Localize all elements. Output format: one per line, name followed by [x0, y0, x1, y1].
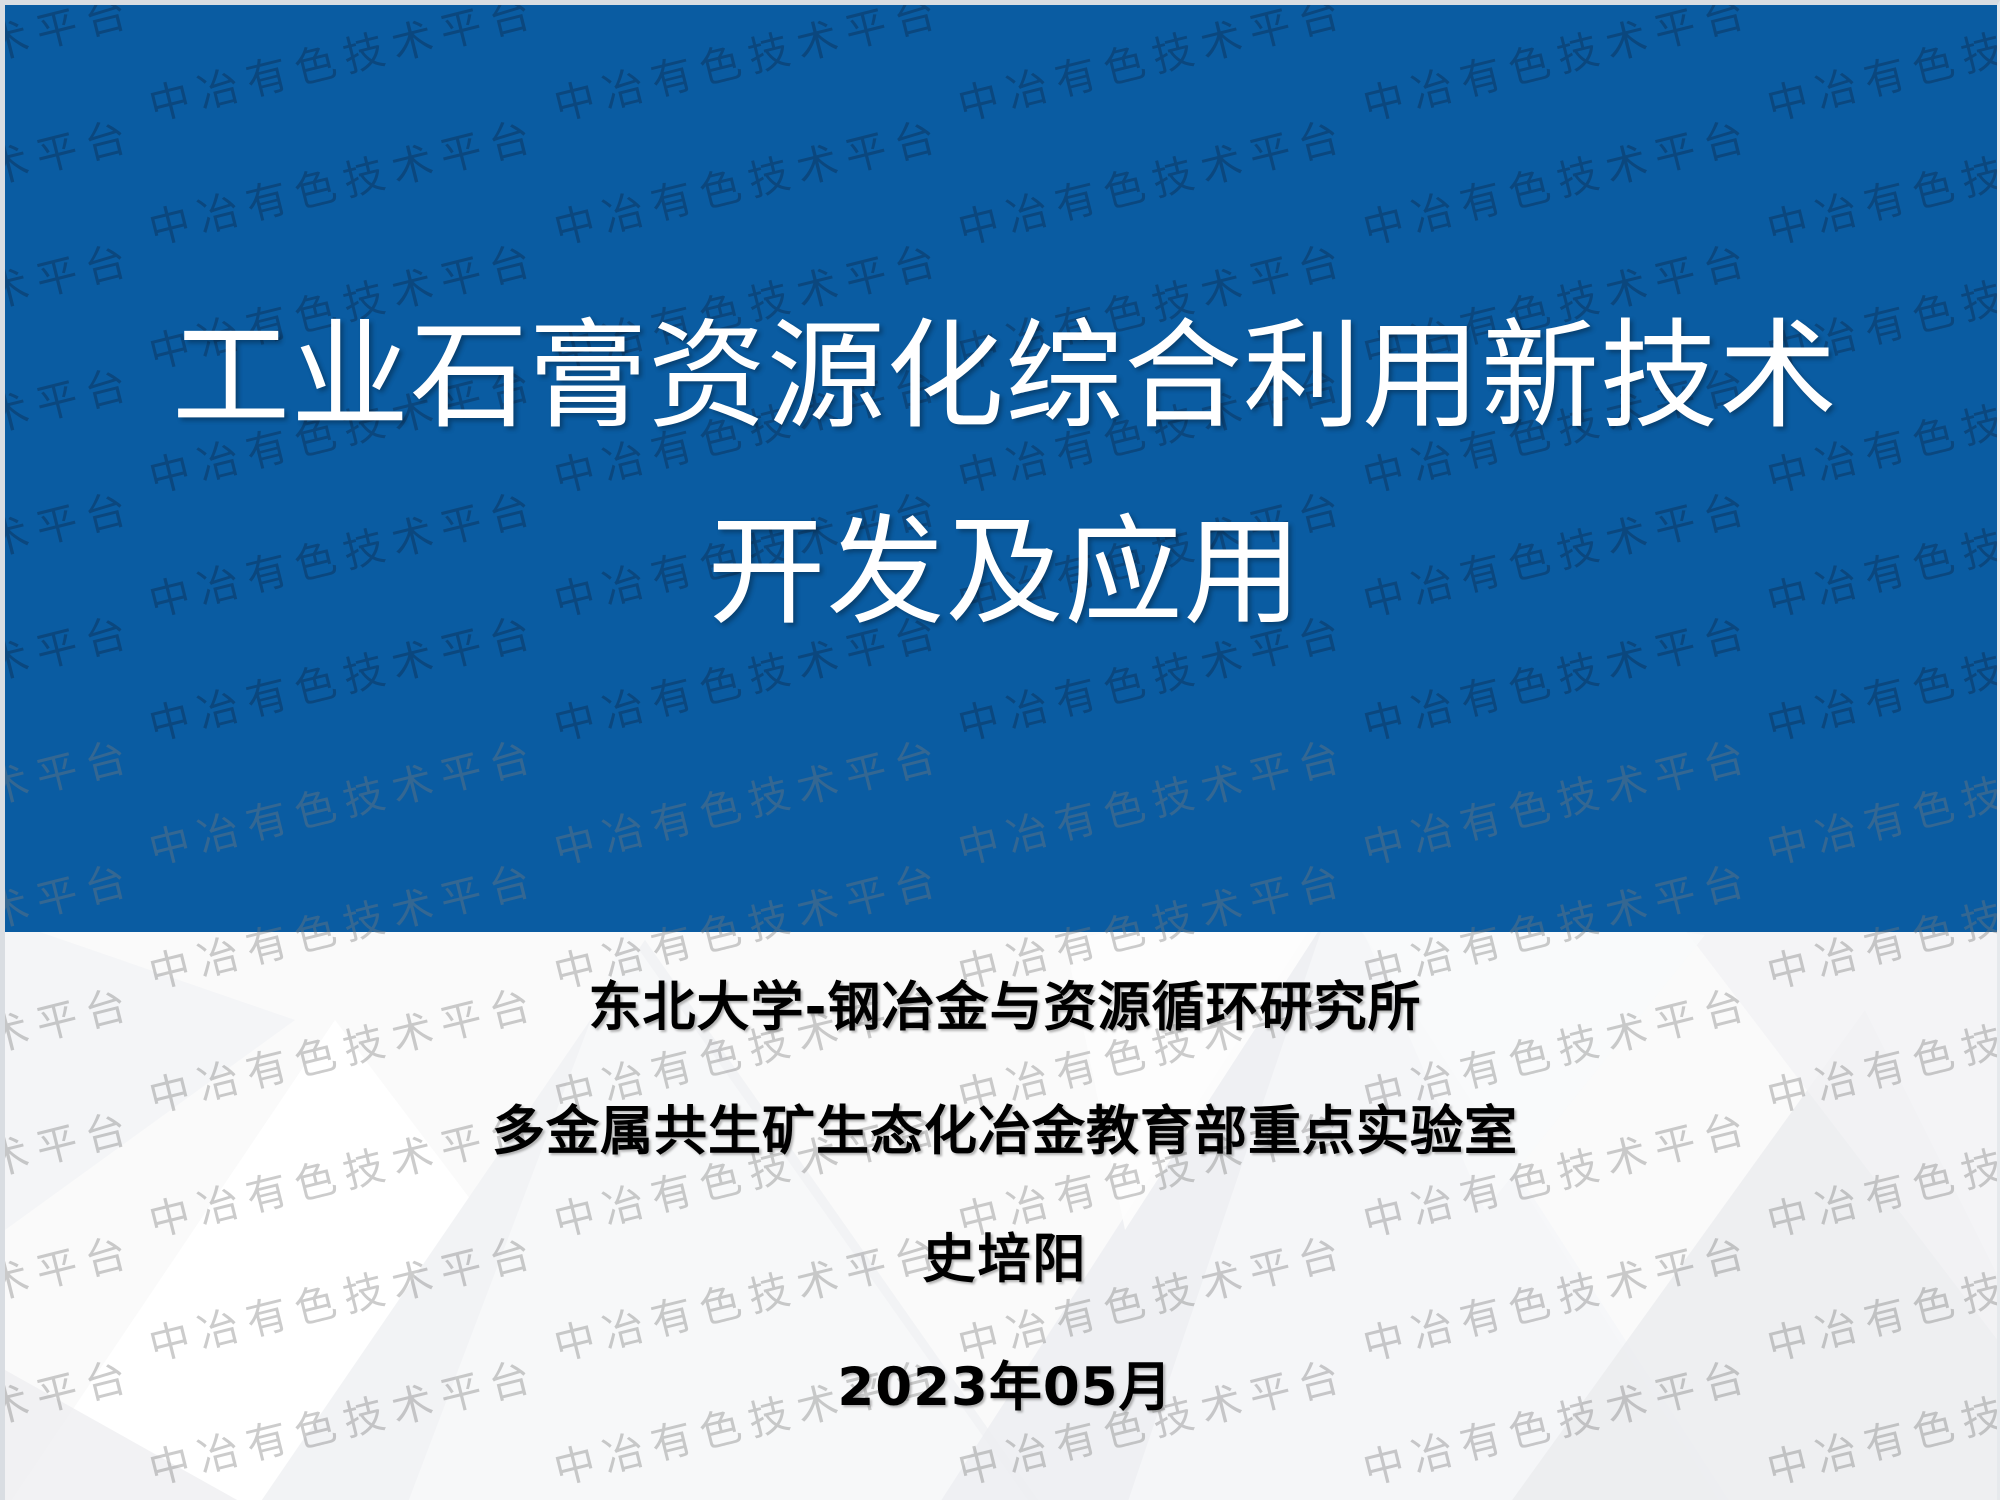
slide-title-line-2: 开发及应用 [707, 501, 1302, 645]
title-slide: 中冶有色技术平台 中冶有色技术平台 中冶有色技术平台 中冶有色技术平台 中冶有色… [0, 0, 2000, 1500]
laboratory-line: 多金属共生矿生态化冶金教育部重点实验室 [492, 1089, 1518, 1165]
organization-line: 东北大学-钢冶金与资源循环研究所 [589, 965, 1422, 1041]
slide-meta-block: 东北大学-钢冶金与资源循环研究所 多金属共生矿生态化冶金教育部重点实验室 史培阳… [5, 965, 2000, 1421]
slide-title-line-1: 工业石膏资源化综合利用新技术 [172, 305, 1838, 449]
author-name: 史培阳 [923, 1217, 1088, 1293]
presentation-date: 2023年05月 [837, 1345, 1172, 1421]
slide-title-block: 工业石膏资源化综合利用新技术 开发及应用 [5, 5, 2000, 932]
